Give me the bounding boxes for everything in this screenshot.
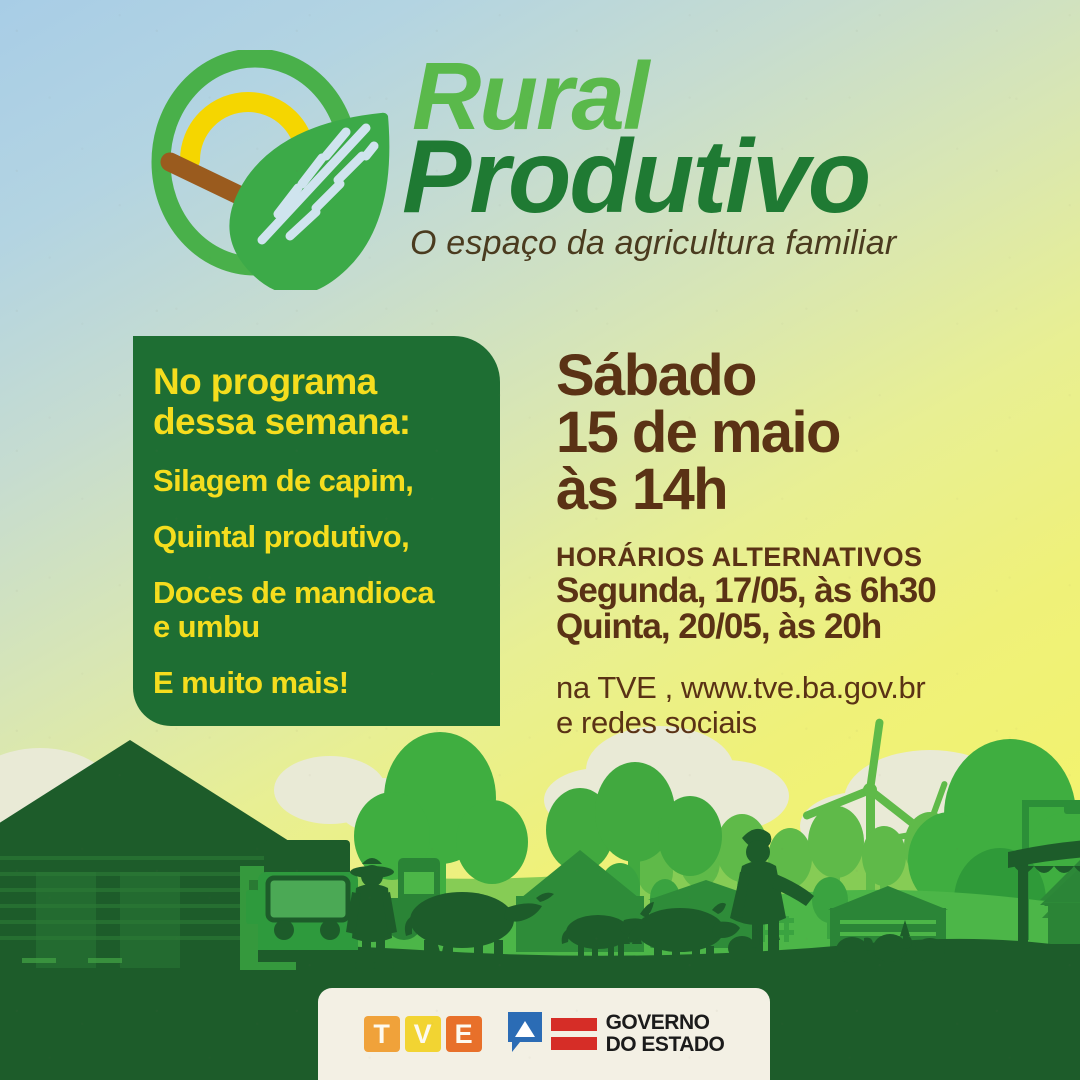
footer-logo-bar: T V E GOVERNO DO ESTADO [318, 988, 770, 1080]
logo-tagline: O espaço da agricultura familiar [410, 224, 947, 263]
program-heading-line1: No programa [153, 362, 500, 402]
program-item-4: E muito mais! [153, 666, 500, 700]
event-info-column: Sábado 15 de maio às 14h HORÁRIOS ALTERN… [556, 348, 1006, 740]
program-item-3: Doces de mandioca e umbu [153, 576, 500, 644]
program-item-2: Quintal produtivo, [153, 520, 500, 554]
logo-word-produtivo: Produtivo [402, 133, 947, 222]
alt-times-label: HORÁRIOS ALTERNATIVOS [556, 542, 1006, 573]
program-item-1: Silagem de capim, [153, 464, 500, 498]
event-weekday: Sábado [556, 348, 1006, 405]
alt-time-2: Quinta, 20/05, às 20h [556, 609, 1006, 645]
government-label: GOVERNO DO ESTADO [606, 1012, 725, 1056]
alt-time-1: Segunda, 17/05, às 6h30 [556, 573, 1006, 609]
channel-line-2: e redes sociais [556, 706, 1006, 741]
channel-info: na TVE , www.tve.ba.gov.br e redes socia… [556, 671, 1006, 740]
leaf-sun-logo-icon [150, 50, 395, 290]
government-logo: GOVERNO DO ESTADO [508, 1012, 725, 1056]
event-time: às 14h [556, 462, 1006, 519]
red-bars-icon [551, 1016, 597, 1052]
event-headline: Sábado 15 de maio às 14h [556, 348, 1006, 518]
government-label-line2: DO ESTADO [606, 1034, 725, 1056]
truck [246, 840, 366, 962]
government-label-line1: GOVERNO [606, 1012, 725, 1034]
channel-line-1[interactable]: na TVE , www.tve.ba.gov.br [556, 671, 1006, 706]
program-item-3-subtext: e umbu [153, 610, 500, 644]
program-item-3-text: Doces de mandioca [153, 575, 434, 610]
program-item-4-text: E muito mais! [153, 665, 348, 700]
poster-canvas: Rural Produtivo O espaço da agricultura … [0, 0, 1080, 1080]
program-heading-line2: dessa semana: [153, 402, 500, 442]
program-item-2-text: Quintal produtivo, [153, 519, 409, 554]
tve-logo: T V E [364, 1016, 482, 1052]
weekly-program-panel: No programa dessa semana: Silagem de cap… [133, 336, 500, 726]
bahia-flag-mark-icon [508, 1012, 542, 1056]
event-date: 15 de maio [556, 405, 1006, 462]
logo-wordmark: Rural Produtivo O espaço da agricultura … [402, 56, 947, 263]
program-item-1-text: Silagem de capim, [153, 463, 413, 498]
tve-letter-v: V [405, 1016, 441, 1052]
tve-letter-e: E [446, 1016, 482, 1052]
program-heading: No programa dessa semana: [153, 362, 500, 442]
brand-logo: Rural Produtivo O espaço da agricultura … [150, 48, 950, 288]
tve-letter-t: T [364, 1016, 400, 1052]
